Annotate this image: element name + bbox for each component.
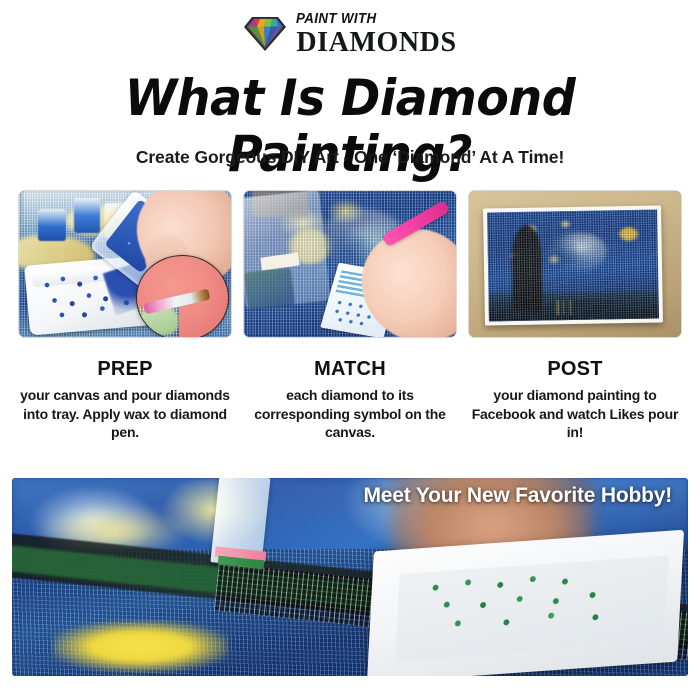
step-match-photo bbox=[243, 190, 457, 338]
infographic-page: PAINT WITH DIAMONDS What Is Diamond Pain… bbox=[0, 0, 700, 700]
brand-logo: PAINT WITH DIAMONDS bbox=[0, 12, 700, 57]
page-subtitle: Create Gorgeous DIY Art - One ‘Diamond’ … bbox=[0, 147, 700, 168]
brand-tagline: PAINT WITH bbox=[296, 12, 377, 27]
step-prep-description: your canvas and pour diamonds into tray.… bbox=[18, 386, 232, 442]
step-prep-photo bbox=[18, 190, 232, 338]
starry-night-artwork bbox=[487, 210, 659, 322]
step-post-title: POST bbox=[468, 358, 682, 381]
step-post: POST your diamond painting to Facebook a… bbox=[468, 190, 682, 442]
diamond-gem-icon bbox=[243, 14, 287, 54]
vial-blue bbox=[38, 209, 66, 241]
step-post-description: your diamond painting to Facebook and wa… bbox=[468, 386, 682, 442]
step-prep-title: PREP bbox=[18, 358, 232, 381]
brand-name: DIAMONDS bbox=[296, 29, 456, 57]
step-match-description: each diamond to its corresponding symbol… bbox=[243, 386, 457, 442]
step-post-photo bbox=[468, 190, 682, 338]
banner-headline: Meet Your New Favorite Hobby! bbox=[364, 484, 672, 508]
bag-dark-contents bbox=[244, 267, 294, 310]
brand-wordmark: PAINT WITH DIAMONDS bbox=[296, 12, 456, 57]
steps-row: PREP your canvas and pour diamonds into … bbox=[18, 190, 682, 442]
step-match: MATCH each diamond to its corresponding … bbox=[243, 190, 457, 442]
vial-blue-2 bbox=[74, 198, 99, 233]
wax-inset-circle bbox=[136, 255, 229, 338]
step-match-title: MATCH bbox=[243, 358, 457, 381]
banner-yellow-star bbox=[53, 621, 229, 672]
step-prep: PREP your canvas and pour diamonds into … bbox=[18, 190, 232, 442]
white-canvas-frame bbox=[483, 206, 663, 326]
mosaic-texture bbox=[487, 210, 659, 322]
hero-banner: Meet Your New Favorite Hobby! bbox=[12, 478, 688, 676]
